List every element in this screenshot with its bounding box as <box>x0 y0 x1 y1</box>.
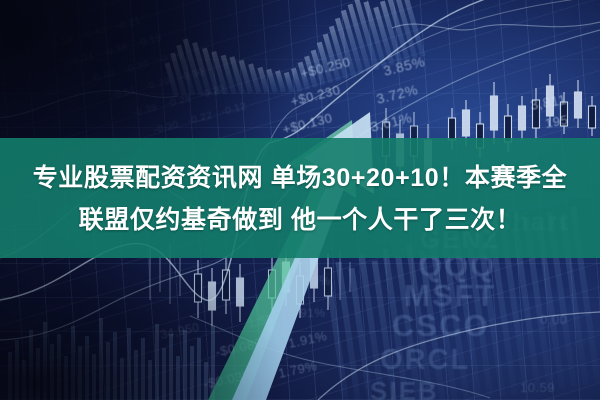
banner-image: -0.12 -0.43 -0.21 -0.34 -0.38 -0.19 -0.4… <box>0 0 600 400</box>
headline-line-1: 专业股票配资资讯网 单场30+20+10！本赛季全 <box>0 163 600 193</box>
headline-band <box>0 138 600 258</box>
headline-line-2: 联盟仅约基奇做到 他一个人干了三次！ <box>0 205 600 235</box>
